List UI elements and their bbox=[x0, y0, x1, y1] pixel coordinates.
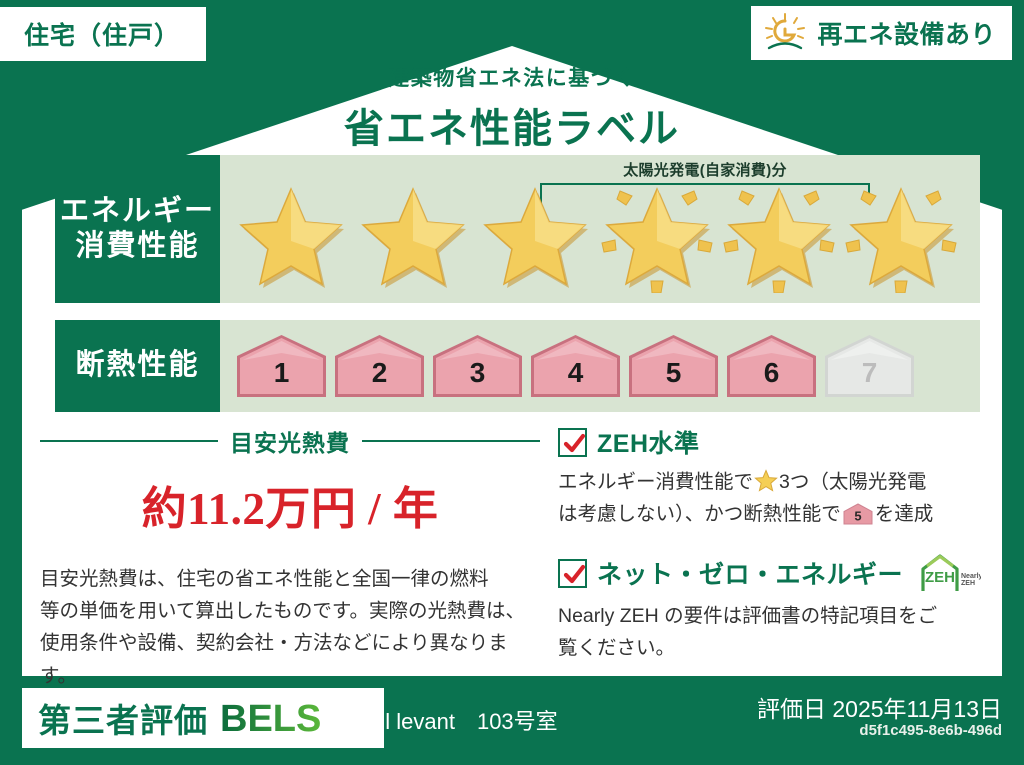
net-zero-body-line1: Nearly ZEH の要件は評価書の特記項目をご bbox=[558, 601, 988, 633]
utility-cost-heading-text: 目安光熱費 bbox=[230, 424, 350, 458]
insulation-label-text: 断熱性能 bbox=[75, 348, 199, 383]
zeh-body-part-d: を達成 bbox=[875, 503, 934, 525]
zeh-body-part-c: は考慮しない）、かつ断熱性能で bbox=[558, 503, 841, 525]
svg-text:5: 5 bbox=[854, 508, 861, 523]
utility-cost-note: 目安光熱費は、住宅の省エネ性能と全国一律の燃料 等の単価を用いて算出したものです… bbox=[40, 563, 540, 692]
star-icon bbox=[476, 181, 594, 293]
evaluation-date: 評価日 2025年11月13日 bbox=[757, 690, 1002, 724]
svg-text:ZEH: ZEH bbox=[925, 569, 955, 586]
evaluation-id: d5f1c495-8e6b-496d bbox=[859, 722, 1002, 739]
renewable-equipment-badge: 再エネ設備あり bbox=[751, 6, 1012, 60]
check-icon bbox=[562, 562, 587, 587]
utility-cost-note-line2: 等の単価を用いて算出したものです。実際の光熱費は、 bbox=[40, 595, 540, 627]
property-name: soleil levant 103号室 bbox=[340, 704, 558, 736]
svg-text:Nearly: Nearly bbox=[961, 573, 981, 580]
energy-star bbox=[842, 181, 960, 285]
label-title-block: 建築物省エネ法に基づく 省エネ性能ラベル bbox=[0, 62, 1024, 154]
inline-house-badge-icon: 5 bbox=[843, 503, 873, 525]
zeh-standard-header: ZEH水準 bbox=[558, 424, 988, 460]
insulation-grade-number: 6 bbox=[724, 357, 819, 389]
title-main: 省エネ性能ラベル bbox=[0, 96, 1024, 154]
star-icon-solar bbox=[842, 181, 960, 293]
energy-performance-label: 住宅（住戸） 再エネ設備あり 建築物省エネ法に基づく 省エネ性能ラベル エネルギ… bbox=[0, 0, 1024, 765]
check-icon bbox=[562, 431, 587, 456]
net-zero-checkbox bbox=[558, 559, 587, 588]
renewable-badge-text: 再エネ設備あり bbox=[817, 15, 996, 51]
energy-star bbox=[720, 181, 838, 285]
insulation-grade-number: 5 bbox=[626, 357, 721, 389]
bels-plate: 第三者評価 BELS bbox=[22, 688, 384, 748]
energy-stars-area: 太陽光発電(自家消費)分 bbox=[220, 155, 980, 303]
insulation-grade-number: 2 bbox=[332, 357, 427, 389]
insulation-grade-number: 4 bbox=[528, 357, 623, 389]
label-footer: 第三者評価 BELS soleil levant 103号室 評価日 2025年… bbox=[0, 676, 1024, 765]
insulation-performance-panel: 断熱性能 1 2 3 bbox=[55, 320, 980, 412]
net-zero-title: ネット・ゼロ・エネルギー bbox=[597, 555, 903, 591]
svg-text:ZEH: ZEH bbox=[961, 580, 975, 587]
insulation-grade-badge: 3 bbox=[430, 333, 525, 399]
star-rating-row bbox=[232, 181, 960, 285]
nearly-zeh-logo-icon: ZEH Nearly ZEH bbox=[919, 552, 981, 594]
dwelling-type-tag: 住宅（住戸） bbox=[0, 7, 206, 61]
star-icon bbox=[354, 181, 472, 293]
dwelling-type-text: 住宅（住戸） bbox=[24, 22, 180, 50]
energy-label-line1: エネルギー bbox=[60, 194, 215, 229]
title-subtitle: 建築物省エネ法に基づく bbox=[0, 62, 1024, 92]
solar-bracket-label: 太陽光発電(自家消費)分 bbox=[540, 159, 870, 180]
energy-performance-panel: エネルギー 消費性能 太陽光発電(自家消費)分 bbox=[55, 155, 980, 303]
net-zero-header: ネット・ゼロ・エネルギー ZEH Nearly ZEH bbox=[558, 552, 988, 594]
net-zero-body: Nearly ZEH の要件は評価書の特記項目をご 覧ください。 bbox=[558, 601, 988, 664]
utility-cost-note-line1: 目安光熱費は、住宅の省エネ性能と全国一律の燃料 bbox=[40, 563, 540, 595]
zeh-standard-title: ZEH水準 bbox=[597, 424, 700, 460]
star-icon bbox=[232, 181, 350, 293]
utility-cost-value: 約11.2万円 / 年 bbox=[40, 472, 540, 537]
net-zero-block: ネット・ゼロ・エネルギー ZEH Nearly ZEH Nearly ZEH の… bbox=[558, 552, 988, 664]
star-icon-solar bbox=[720, 181, 838, 293]
heading-rule-left bbox=[40, 440, 218, 442]
insulation-grade-number: 1 bbox=[234, 357, 329, 389]
insulation-grade-badge: 7 bbox=[822, 333, 917, 399]
insulation-grade-badge: 4 bbox=[528, 333, 623, 399]
zeh-standard-body: エネルギー消費性能で3つ（太陽光発電は考慮しない）、かつ断熱性能で5を達成 bbox=[558, 467, 988, 530]
insulation-grade-badge: 2 bbox=[332, 333, 427, 399]
insulation-grade-badge: 1 bbox=[234, 333, 329, 399]
certification-column: ZEH水準 エネルギー消費性能で3つ（太陽光発電は考慮しない）、かつ断熱性能で5… bbox=[558, 424, 988, 664]
zeh-body-part-b: 3つ（太陽光発電 bbox=[779, 471, 926, 493]
energy-performance-label-box: エネルギー 消費性能 bbox=[55, 155, 220, 303]
zeh-body-part-a: エネルギー消費性能で bbox=[558, 471, 753, 493]
energy-star bbox=[354, 181, 472, 285]
third-party-evaluation-text: 第三者評価 bbox=[38, 694, 208, 742]
net-zero-body-line2: 覧ください。 bbox=[558, 633, 988, 665]
svg-text:BELS: BELS bbox=[220, 698, 321, 738]
sun-solar-icon bbox=[763, 12, 809, 54]
energy-star bbox=[598, 181, 716, 285]
energy-star bbox=[232, 181, 350, 285]
insulation-performance-label-box: 断熱性能 bbox=[55, 320, 220, 412]
utility-cost-heading: 目安光熱費 bbox=[40, 424, 540, 458]
inline-star-icon bbox=[754, 469, 778, 492]
insulation-grade-row: 1 2 3 4 5 bbox=[220, 320, 980, 412]
utility-cost-column: 目安光熱費 約11.2万円 / 年 目安光熱費は、住宅の省エネ性能と全国一律の燃… bbox=[40, 424, 540, 692]
heading-rule-right bbox=[362, 440, 540, 442]
energy-label-line2: 消費性能 bbox=[75, 229, 199, 264]
insulation-grade-number: 7 bbox=[822, 357, 917, 389]
insulation-grade-number: 3 bbox=[430, 357, 525, 389]
energy-star bbox=[476, 181, 594, 285]
zeh-standard-checkbox bbox=[558, 428, 587, 457]
insulation-grade-badge: 5 bbox=[626, 333, 721, 399]
insulation-grade-badge: 6 bbox=[724, 333, 819, 399]
star-icon-solar bbox=[598, 181, 716, 293]
